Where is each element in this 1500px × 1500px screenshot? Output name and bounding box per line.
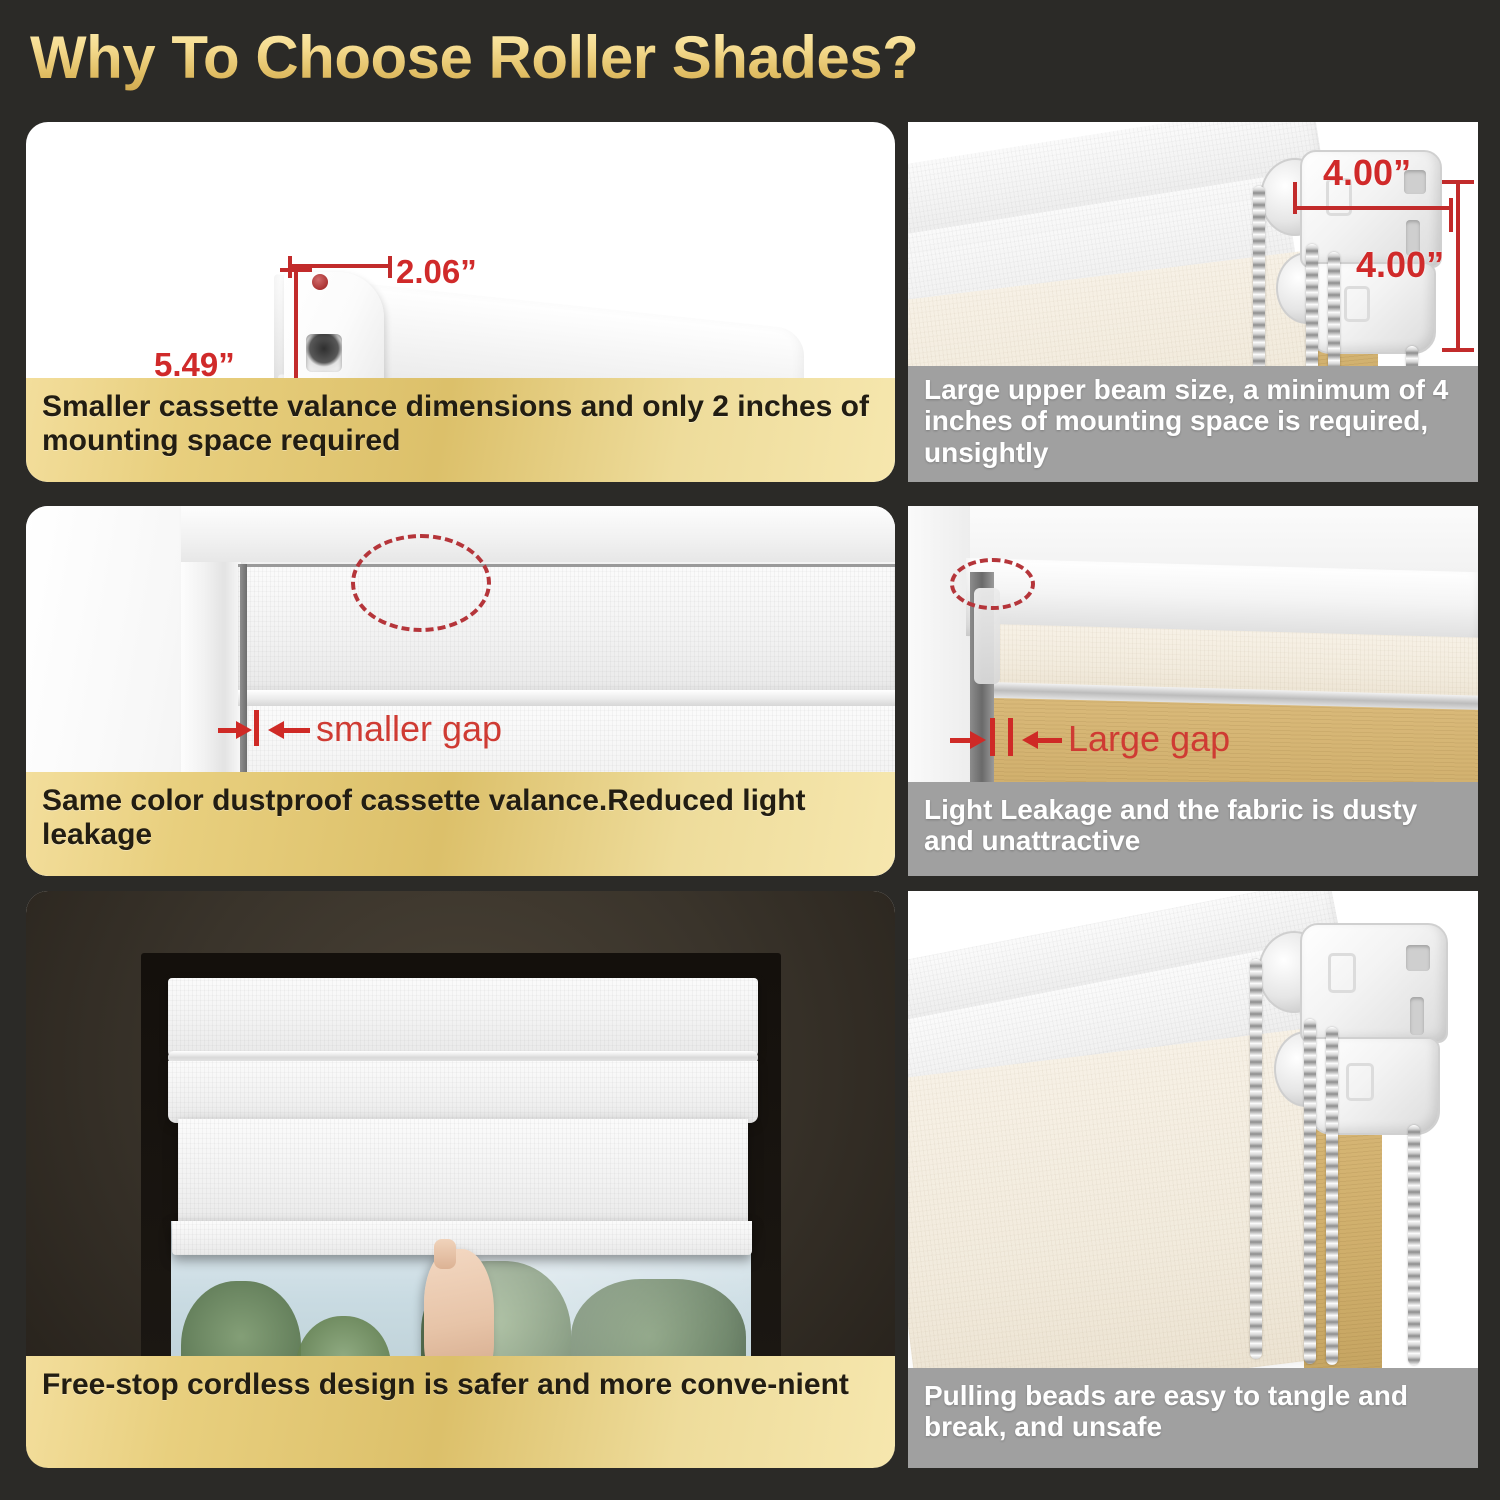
large-gap-arrow-left-icon <box>1022 731 1038 749</box>
height-dimension-tick-top <box>280 268 312 272</box>
mounted-cassette-valance <box>238 564 895 692</box>
hand-finger <box>434 1239 456 1269</box>
highlight-ellipse-icon <box>950 558 1035 610</box>
beam-width-tick-right <box>1449 198 1453 232</box>
valance-lip <box>238 690 895 706</box>
gap-annotation-label: smaller gap <box>316 708 502 750</box>
scene-shade-fabric <box>178 1119 748 1229</box>
highlight-ellipse-icon <box>351 534 491 632</box>
large-gap-marker-bar-2 <box>1008 718 1013 756</box>
gap-arrow-stem-left <box>218 728 238 733</box>
bead-chain-2 <box>1304 1019 1316 1364</box>
beam-height-tick-bottom <box>1442 348 1474 352</box>
large-gap-marker-bar-1 <box>990 718 995 756</box>
beam-height-dimension-label: 4.00” <box>1356 244 1444 286</box>
gap-marker-bar <box>254 710 259 746</box>
panel-con-pull-beads: Pulling beads are easy to tangle and bre… <box>908 891 1478 1468</box>
panel-pro-cordless: Free-stop cordless design is safer and m… <box>26 891 895 1468</box>
scene-valance-lower <box>168 1061 758 1123</box>
beam-width-dimension-line <box>1293 206 1453 210</box>
beads-mounting-bracket-upper <box>1300 923 1448 1043</box>
large-gap-arrow-stem-left <box>950 738 972 743</box>
panel-caption-con-light-leak: Light Leakage and the fabric is dusty an… <box>908 782 1478 876</box>
width-dimension-tick-left <box>288 256 292 278</box>
large-gap-arrow-right-icon <box>970 731 986 749</box>
end-cap-top-screw <box>312 274 328 290</box>
beam-height-dimension-line <box>1456 180 1460 352</box>
comparison-grid: 2.06” 5.49” Smaller cassette valance dim… <box>0 0 1500 1500</box>
beam-width-tick-left <box>1293 182 1297 214</box>
scene-cassette-valance <box>168 978 758 1056</box>
panel-caption-pro-small-gap: Same color dustproof cassette valance.Re… <box>26 772 895 876</box>
bead-chain-1 <box>1250 959 1262 1359</box>
width-dimension-tick-right <box>388 256 392 278</box>
gap-arrow-right-icon <box>236 721 252 739</box>
bead-chain-3 <box>1326 1027 1338 1365</box>
end-cap-socket <box>306 334 342 372</box>
bead-chain-4 <box>1408 1125 1420 1365</box>
panel-caption-pro-cassette-size: Smaller cassette valance dimensions and … <box>26 378 895 482</box>
large-gap-annotation-label: Large gap <box>1068 718 1230 760</box>
gap-arrow-stem-right <box>284 728 310 733</box>
panel-caption-con-pull-beads: Pulling beads are easy to tangle and bre… <box>908 1368 1478 1468</box>
panel-pro-cassette-size: 2.06” 5.49” Smaller cassette valance dim… <box>26 122 895 482</box>
panel-caption-pro-cordless: Free-stop cordless design is safer and m… <box>26 1356 895 1468</box>
panel-con-beam-size: 4.00” 4.00” Large upper beam size, a min… <box>908 122 1478 482</box>
panel-con-light-leak: Large gap Light Leakage and the fabric i… <box>908 506 1478 876</box>
window-frame-head <box>181 506 895 562</box>
panel-caption-con-beam-size: Large upper beam size, a minimum of 4 in… <box>908 366 1478 482</box>
panel-pro-small-gap: smaller gap Same color dustproof cassett… <box>26 506 895 876</box>
width-dimension-label: 2.06” <box>396 253 477 291</box>
gap-arrow-left-icon <box>268 721 284 739</box>
beam-height-tick-top <box>1442 180 1474 184</box>
beam-width-dimension-label: 4.00” <box>1323 152 1411 194</box>
large-gap-arrow-stem-right <box>1038 738 1062 743</box>
